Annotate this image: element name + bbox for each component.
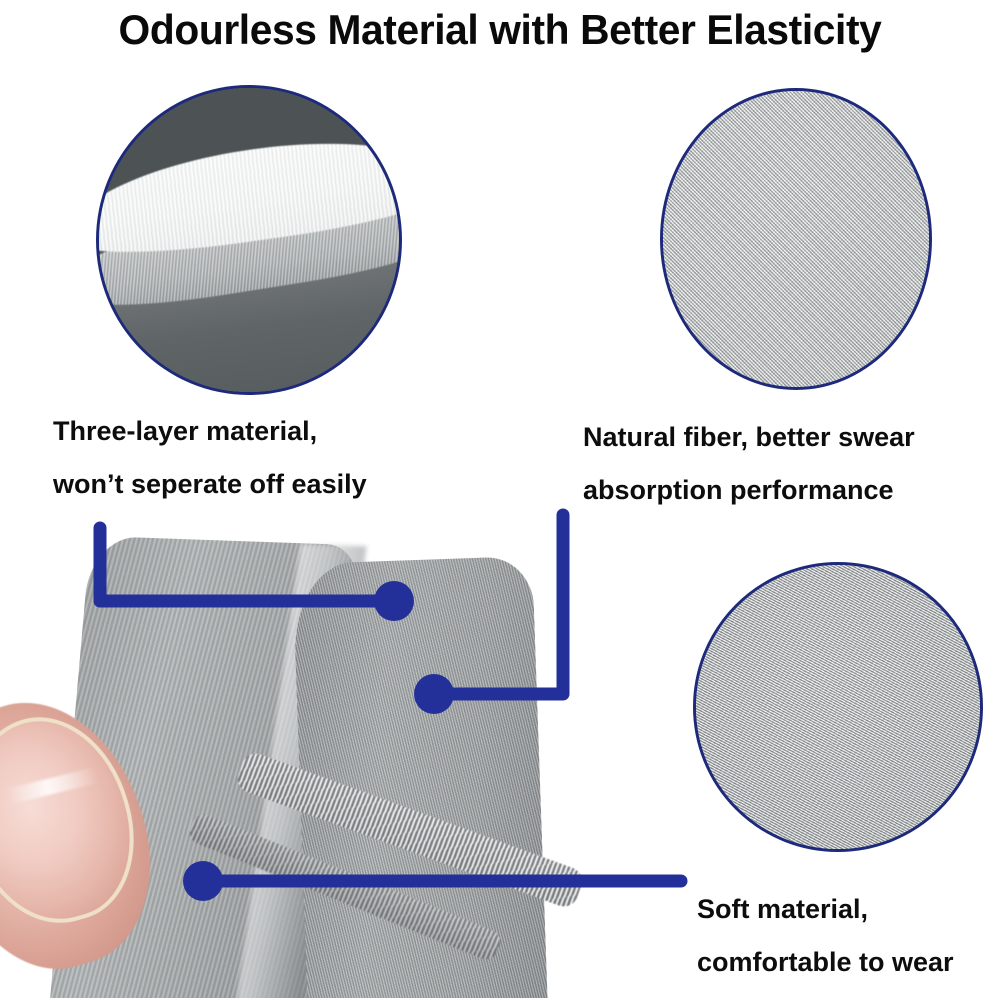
- hero-photo-hand-holding-fabric: [0, 520, 700, 998]
- infographic-canvas: Odourless Material with Better Elasticit…: [0, 0, 1000, 998]
- caption-natural-fiber: Natural fiber, better swear absorption p…: [583, 411, 915, 517]
- caption-three-layer-line2: won’t seperate off easily: [53, 458, 367, 511]
- caption-three-layer: Three-layer material, won’t seperate off…: [53, 405, 367, 511]
- weave-photo: [663, 91, 929, 387]
- caption-soft-material-line2: comfortable to wear: [697, 936, 954, 989]
- page-title: Odourless Material with Better Elasticit…: [15, 2, 985, 58]
- fleece-photo: [696, 565, 980, 849]
- inset-woven-fabric-weave: [660, 88, 932, 390]
- caption-soft-material: Soft material, comfortable to wear: [697, 883, 954, 989]
- caption-three-layer-line1: Three-layer material,: [53, 405, 367, 458]
- inset-three-layer-cross-section: [96, 85, 402, 395]
- caption-natural-fiber-line1: Natural fiber, better swear: [583, 411, 915, 464]
- caption-natural-fiber-line2: absorption performance: [583, 464, 915, 517]
- caption-soft-material-line1: Soft material,: [697, 883, 954, 936]
- inset-soft-brushed-fleece: [693, 562, 983, 852]
